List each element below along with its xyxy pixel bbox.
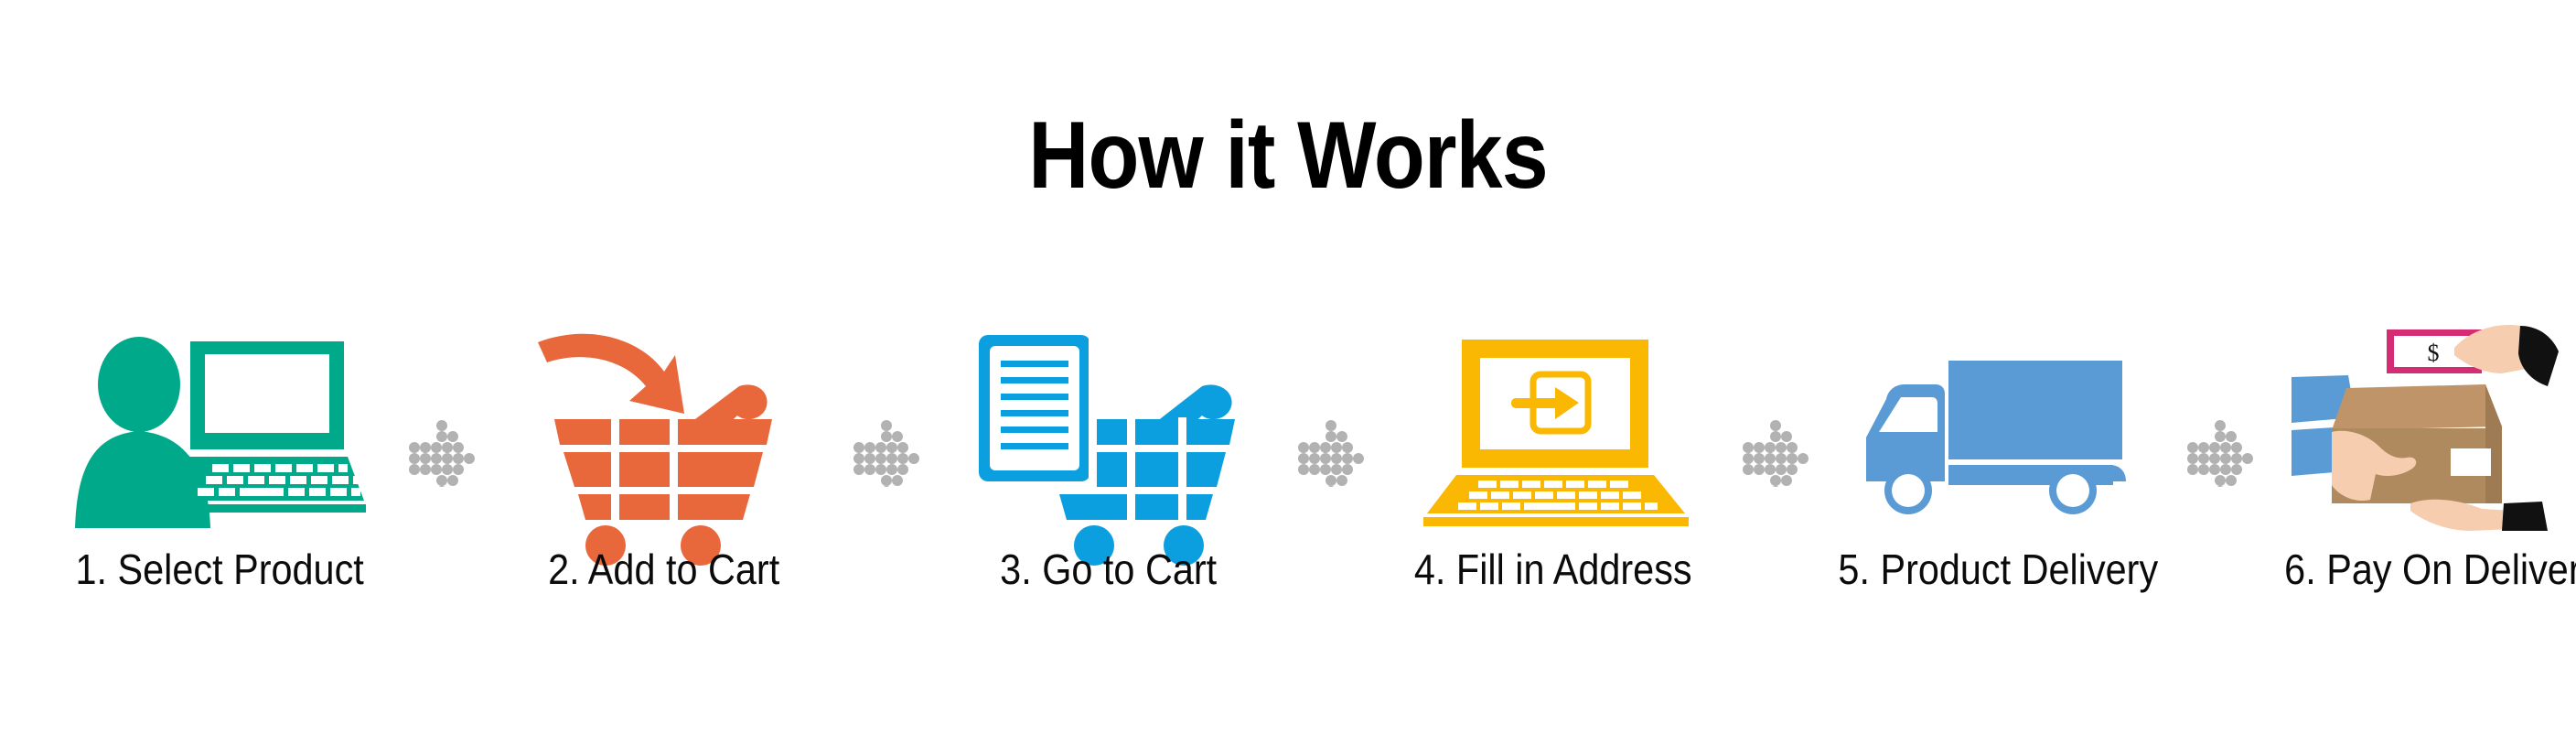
dotted-arrow-right-icon	[847, 302, 926, 613]
step-6-pay-on-delivery[interactable]: $	[2259, 302, 2576, 613]
step-6-label: 6. Pay On Delivery	[2284, 547, 2576, 591]
how-it-works-infographic: How it Works	[0, 0, 2576, 745]
steps-strip: 1. Select Product	[37, 302, 2539, 613]
hands-box-cash-icon: $	[2259, 302, 2576, 531]
dotted-arrow-right-icon	[2181, 302, 2259, 613]
person-laptop-icon	[37, 302, 402, 531]
dotted-arrow-right-icon	[402, 302, 481, 613]
step-3-label: 3. Go to Cart	[1000, 547, 1217, 591]
step-1-select-product[interactable]: 1. Select Product	[37, 302, 402, 613]
step-4-label: 4. Fill in Address	[1414, 547, 1692, 591]
dotted-arrow-right-icon	[1292, 302, 1370, 613]
delivery-truck-icon	[1815, 302, 2181, 531]
page-title: How it Works	[155, 108, 2421, 203]
step-3-go-to-cart[interactable]: 3. Go to Cart	[926, 302, 1292, 613]
dotted-arrow-right-icon	[1736, 302, 1815, 613]
step-1-label: 1. Select Product	[75, 547, 363, 591]
step-2-label: 2. Add to Cart	[548, 547, 779, 591]
step-5-product-delivery[interactable]: 5. Product Delivery	[1815, 302, 2181, 613]
laptop-login-icon	[1370, 302, 1736, 531]
document-cart-icon	[926, 302, 1292, 531]
step-5-label: 5. Product Delivery	[1838, 547, 2158, 591]
svg-text:$: $	[2428, 340, 2440, 366]
receiving-hand-lower	[2410, 500, 2548, 531]
cart-with-arrow-icon	[481, 302, 847, 531]
step-2-add-to-cart[interactable]: 2. Add to Cart	[481, 302, 847, 613]
step-4-fill-in-address[interactable]: 4. Fill in Address	[1370, 302, 1736, 613]
